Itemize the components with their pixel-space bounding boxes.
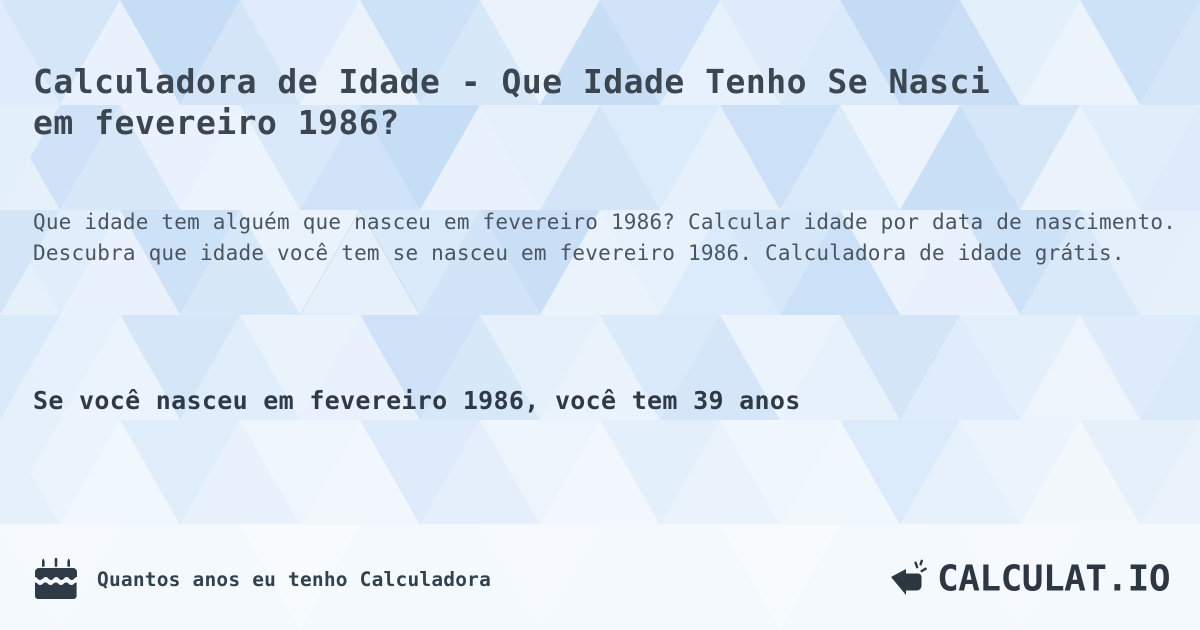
hand-pointer-icon [887, 559, 931, 599]
page-title: Calculadora de Idade - Que Idade Tenho S… [33, 62, 1033, 143]
page-description: Que idade tem alguém que nasceu em fever… [33, 207, 1183, 269]
page-content: Calculadora de Idade - Que Idade Tenho S… [0, 0, 1200, 630]
footer-brand-left: Quantos anos eu tenho Calculadora [33, 558, 491, 600]
brand-logo[interactable]: CALCULAT.IO [887, 559, 1170, 600]
brand-name: CALCULAT.IO [937, 559, 1170, 600]
age-answer: Se você nasceu em fevereiro 1986, você t… [33, 383, 1153, 419]
birthday-cake-icon [33, 558, 79, 600]
footer-label: Quantos anos eu tenho Calculadora [97, 568, 491, 591]
footer: Quantos anos eu tenho Calculadora CALCUL… [0, 528, 1200, 630]
